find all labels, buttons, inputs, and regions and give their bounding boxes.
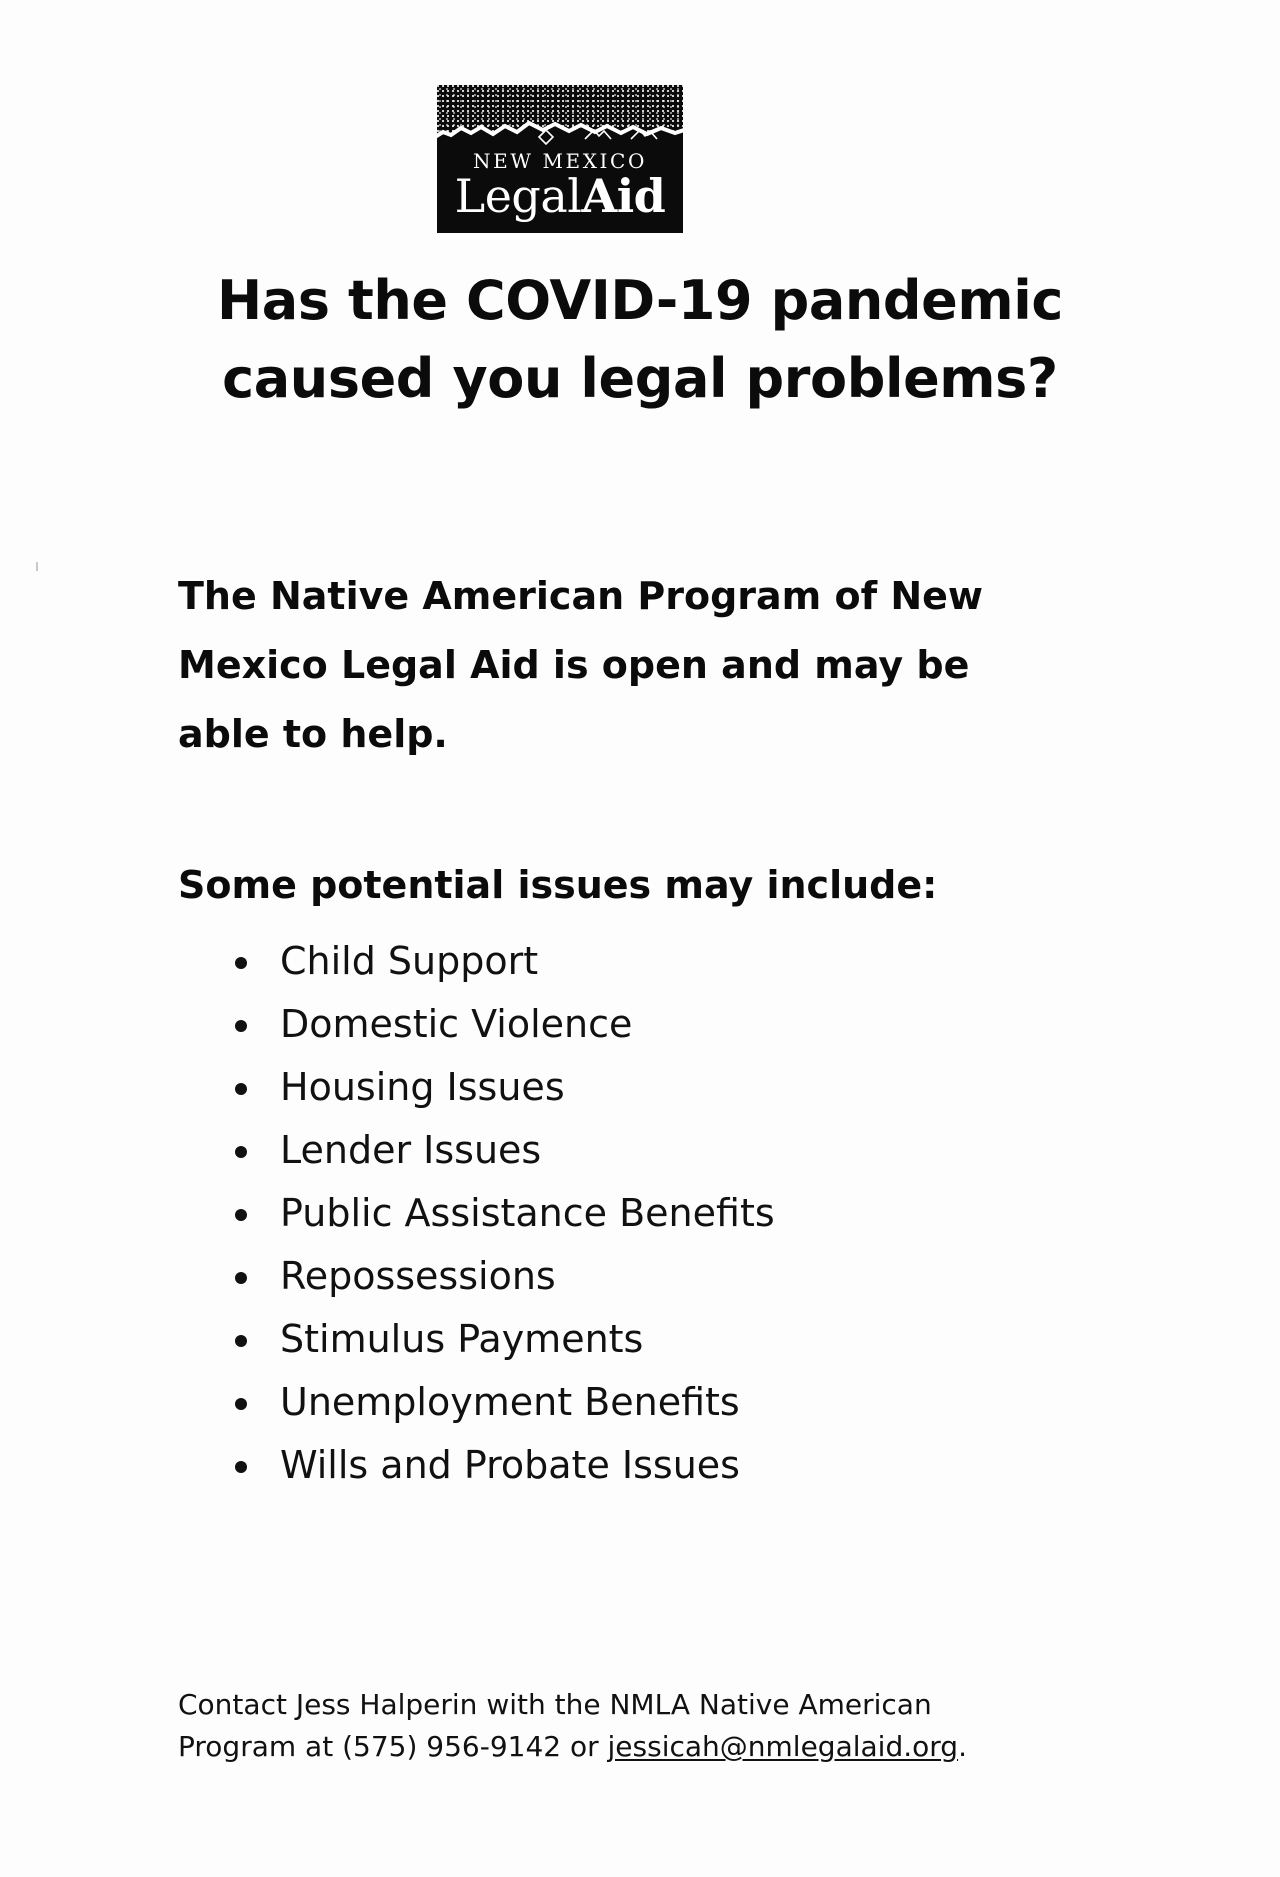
- page-title-line-1: Has the COVID-19 pandemic: [217, 269, 1063, 332]
- contact-block: Contact Jess Halperin with the NMLA Nati…: [178, 1684, 1078, 1768]
- bullet-icon: [235, 1083, 247, 1095]
- bullet-icon: [235, 1209, 247, 1221]
- list-item: Repossessions: [232, 1245, 1052, 1308]
- list-item-label: Lender Issues: [280, 1128, 541, 1172]
- list-item-label: Unemployment Benefits: [280, 1380, 740, 1424]
- contact-line-2: Program at (575) 956-9142 or jessicah@nm…: [178, 1726, 1078, 1768]
- list-item: Public Assistance Benefits: [232, 1182, 1052, 1245]
- list-item-label: Repossessions: [280, 1254, 556, 1298]
- lead-line-2: Mexico Legal Aid is open and may be: [178, 631, 1008, 700]
- list-item-label: Public Assistance Benefits: [280, 1191, 775, 1235]
- list-item-label: Stimulus Payments: [280, 1317, 643, 1361]
- lead-paragraph: The Native American Program of New Mexic…: [178, 562, 1008, 769]
- list-item: Unemployment Benefits: [232, 1371, 1052, 1434]
- logo-background: NEW MEXICO LegalAid: [437, 85, 683, 233]
- bullet-icon: [235, 1020, 247, 1032]
- list-item: Child Support: [232, 930, 1052, 993]
- scan-artifact: [36, 562, 38, 571]
- list-item: Stimulus Payments: [232, 1308, 1052, 1371]
- bullet-icon: [235, 1146, 247, 1158]
- nm-legal-aid-logo: NEW MEXICO LegalAid: [437, 85, 683, 233]
- flyer-page: NEW MEXICO LegalAid Has the COVID-19 pan…: [0, 0, 1280, 1877]
- lead-line-3: able to help.: [178, 700, 1008, 769]
- logo-wordmark-aid: Aid: [582, 169, 666, 223]
- contact-line-2-period: .: [958, 1730, 967, 1763]
- page-title: Has the COVID-19 pandemic caused you leg…: [160, 262, 1120, 418]
- list-item-label: Wills and Probate Issues: [280, 1443, 740, 1487]
- mountain-ridge-icon: [437, 121, 683, 147]
- contact-email-link[interactable]: jessicah@nmlegalaid.org: [608, 1730, 959, 1763]
- issues-list: Child Support Domestic Violence Housing …: [232, 930, 1052, 1497]
- page-title-line-2: caused you legal problems?: [160, 340, 1120, 418]
- list-item: Domestic Violence: [232, 993, 1052, 1056]
- list-item-label: Housing Issues: [280, 1065, 565, 1109]
- contact-program-phone: Program at (575) 956-9142 or: [178, 1730, 608, 1763]
- lead-line-1: The Native American Program of New: [178, 562, 1008, 631]
- list-item-label: Child Support: [280, 939, 538, 983]
- bullet-icon: [235, 1272, 247, 1284]
- bullet-icon: [235, 1461, 247, 1473]
- contact-line-1: Contact Jess Halperin with the NMLA Nati…: [178, 1684, 1078, 1726]
- logo-wordmark: LegalAid: [437, 171, 683, 221]
- list-item: Wills and Probate Issues: [232, 1434, 1052, 1497]
- list-item: Lender Issues: [232, 1119, 1052, 1182]
- bullet-icon: [235, 1398, 247, 1410]
- list-item: Housing Issues: [232, 1056, 1052, 1119]
- bullet-icon: [235, 1335, 247, 1347]
- issues-subheading: Some potential issues may include:: [178, 862, 1058, 908]
- bullet-icon: [235, 957, 247, 969]
- logo-wordmark-legal: Legal: [455, 169, 582, 223]
- list-item-label: Domestic Violence: [280, 1002, 632, 1046]
